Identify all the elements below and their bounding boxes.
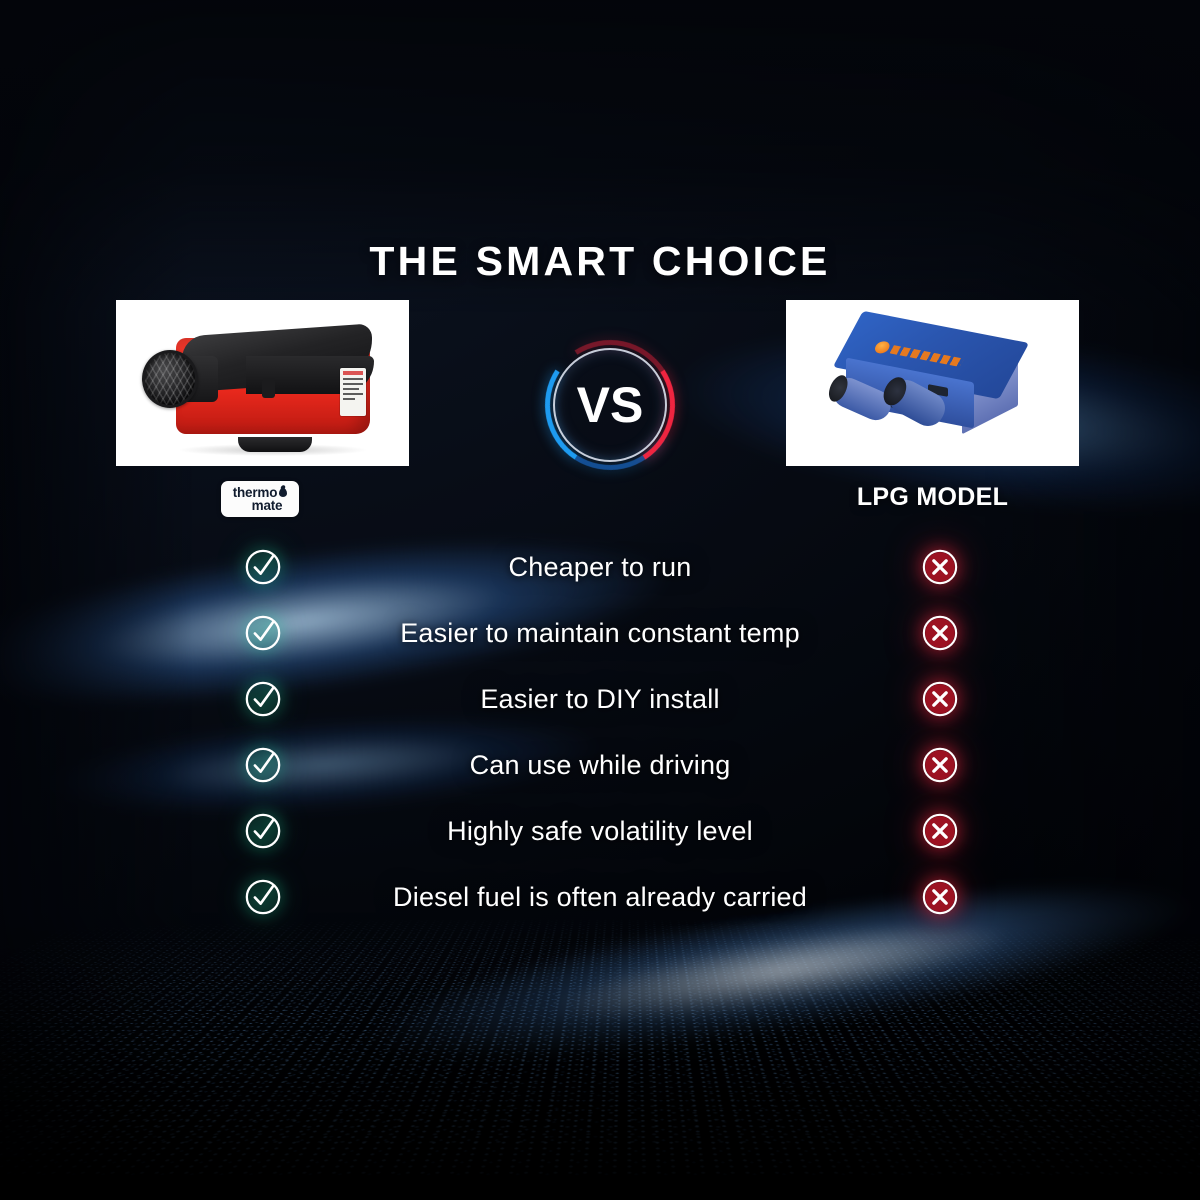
table-row: Can use while driving xyxy=(0,732,1200,798)
feature-label: Can use while driving xyxy=(0,750,1200,781)
x-circle-icon xyxy=(921,680,959,718)
check-circle-icon xyxy=(244,878,282,916)
x-circle-icon xyxy=(921,878,959,916)
lpg-model-caption: LPG MODEL xyxy=(786,483,1079,512)
check-circle-icon xyxy=(244,746,282,784)
comparison-infographic: THE SMART CHOICE xyxy=(0,0,1200,1200)
comparison-table: Cheaper to run Easier to maintai xyxy=(0,534,1200,930)
thermomate-logo-line2: mate xyxy=(238,499,283,512)
page-title: THE SMART CHOICE xyxy=(0,238,1200,285)
feature-label: Cheaper to run xyxy=(0,552,1200,583)
table-row: Easier to maintain constant temp xyxy=(0,600,1200,666)
table-row: Easier to DIY install xyxy=(0,666,1200,732)
x-circle-icon xyxy=(921,614,959,652)
feature-label: Diesel fuel is often already carried xyxy=(0,882,1200,913)
table-row: Diesel fuel is often already carried xyxy=(0,864,1200,930)
feature-label: Easier to maintain constant temp xyxy=(0,618,1200,649)
check-circle-icon xyxy=(244,548,282,586)
thermomate-logo: thermo mate xyxy=(221,481,299,517)
x-circle-icon xyxy=(921,548,959,586)
left-product-image xyxy=(116,300,409,466)
right-product-image xyxy=(786,300,1079,466)
diesel-heater-illustration xyxy=(142,326,388,446)
check-circle-icon xyxy=(244,614,282,652)
table-row: Highly safe volatility level xyxy=(0,798,1200,864)
feature-label: Easier to DIY install xyxy=(0,684,1200,715)
air-outlet-grille-icon xyxy=(142,350,198,408)
flame-icon xyxy=(279,488,287,497)
x-circle-icon xyxy=(921,812,959,850)
x-circle-icon xyxy=(921,746,959,784)
lpg-heater-illustration xyxy=(832,324,1038,446)
vs-label: VS xyxy=(545,340,675,470)
check-circle-icon xyxy=(244,680,282,718)
product-label-sticker xyxy=(340,368,366,416)
table-row: Cheaper to run xyxy=(0,534,1200,600)
vs-badge: VS xyxy=(545,340,675,470)
feature-label: Highly safe volatility level xyxy=(0,816,1200,847)
check-circle-icon xyxy=(244,812,282,850)
